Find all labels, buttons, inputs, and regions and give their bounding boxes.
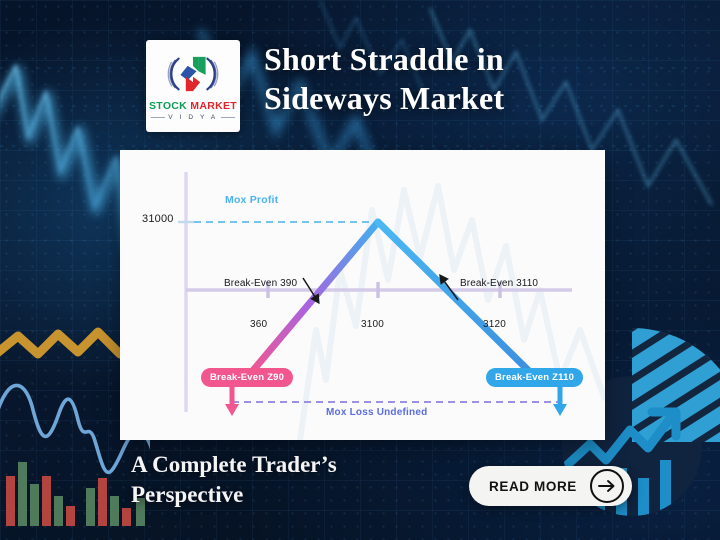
break-even-left-note: Break-Even 390 [224,278,297,289]
logo-subtitle: V I D Y A [151,114,235,121]
max-loss-arrow-right-head [553,404,567,416]
payoff-chart-card: 31000 Mox Profit Break-Even 390 Break-Ev… [120,150,605,440]
arrow-right-icon [598,479,616,493]
break-even-right-badge: Break-Even Z110 [486,368,583,387]
break-even-right-note: Break-Even 3110 [460,278,538,289]
logo-subtitle-text: V I D Y A [168,114,218,121]
poster-canvas: STOCK MARKET V I D Y A Short Straddle in… [0,0,720,540]
read-more-label: READ MORE [489,479,577,494]
x-axis-tick-label-2: 3100 [361,319,384,330]
footer-caption-line-1: A Complete Trader’s [131,450,441,480]
x-axis-tick-label-1: 360 [250,319,267,330]
y-axis-tick-label: 31000 [142,213,174,225]
logo-wordmark: STOCK MARKET [149,100,237,112]
candlestick-chart-decoration [6,462,145,526]
footer-caption-line-2: Perspective [131,480,441,510]
stock-market-vidya-logo-icon [166,51,220,97]
logo-rule-left [151,117,165,118]
max-profit-label: Mox Profit [225,194,278,206]
page-title-line-2: Sideways Market [264,79,594,118]
page-title-line-1: Short Straddle in [264,40,594,79]
max-loss-arrow-left-head [225,404,239,416]
max-loss-label: Mox Loss Undefined [326,407,427,418]
arrow-right-circle-icon [590,469,624,503]
payoff-right-leg [378,222,532,374]
footer-caption: A Complete Trader’s Perspective [131,450,441,511]
break-even-left-badge: Break-Even Z90 [201,368,293,387]
logo-word-market: MARKET [190,100,237,112]
logo-rule-right [221,117,235,118]
brand-logo[interactable]: STOCK MARKET V I D Y A [146,40,240,132]
page-title: Short Straddle in Sideways Market [264,40,594,118]
x-axis-tick-label-3: 3120 [483,319,506,330]
logo-word-stock: STOCK [149,100,187,112]
payoff-plot [120,150,605,440]
read-more-button[interactable]: READ MORE [469,466,632,506]
